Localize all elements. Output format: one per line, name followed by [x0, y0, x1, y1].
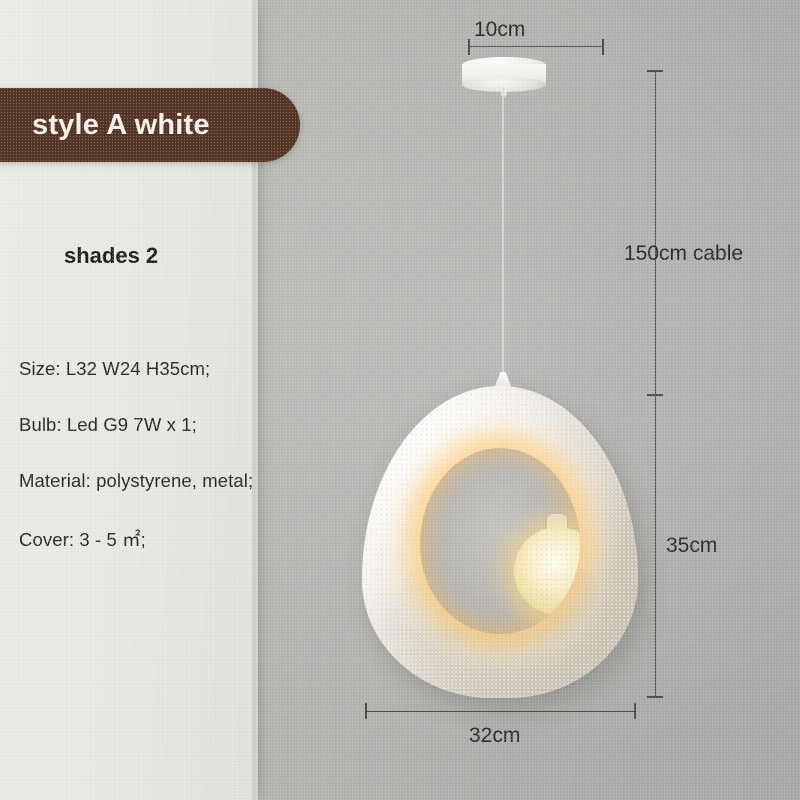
spec-line-cover: Cover: 3 - 5 ㎡; — [19, 526, 349, 552]
shade-width-cap-right — [634, 703, 636, 719]
style-badge-label: style A white — [32, 109, 210, 142]
spec-line-size: Size: L32 W24 H35cm; — [19, 358, 349, 380]
frosted-round-bulb — [514, 527, 580, 615]
shade-width-label: 32cm — [469, 724, 520, 748]
vertical-dimension-line — [655, 71, 656, 697]
suspension-cable — [502, 88, 504, 384]
canopy-width-dimension-line — [468, 46, 604, 47]
pendant-shade — [362, 386, 638, 698]
style-badge: style A white — [0, 88, 300, 162]
spec-list: Size: L32 W24 H35cm; Bulb: Led G9 7W x 1… — [19, 358, 349, 586]
spec-line-bulb: Bulb: Led G9 7W x 1; — [19, 414, 349, 436]
shade-aperture — [420, 448, 580, 634]
vertical-dimension-cap-top — [647, 70, 663, 72]
bulb-speckle-texture — [514, 527, 580, 615]
canopy-width-label: 10cm — [474, 18, 525, 42]
shade-width-cap-left — [365, 703, 367, 719]
canopy-width-cap-left — [468, 39, 470, 55]
shade-height-label: 35cm — [666, 534, 717, 558]
spec-line-material: Material: polystyrene, metal; — [19, 470, 349, 492]
cable-length-label: 150cm cable — [624, 242, 743, 266]
spec-title: shades 2 — [64, 243, 158, 269]
shade-width-dimension-line — [366, 711, 636, 712]
canopy-width-cap-right — [602, 39, 604, 55]
ceiling-canopy — [462, 57, 546, 91]
vertical-dimension-cap-bottom — [647, 696, 663, 698]
product-image-canvas: style A white shades 2 Size: L32 W24 H35… — [0, 0, 800, 800]
vertical-dimension-cap-middle — [647, 394, 663, 396]
